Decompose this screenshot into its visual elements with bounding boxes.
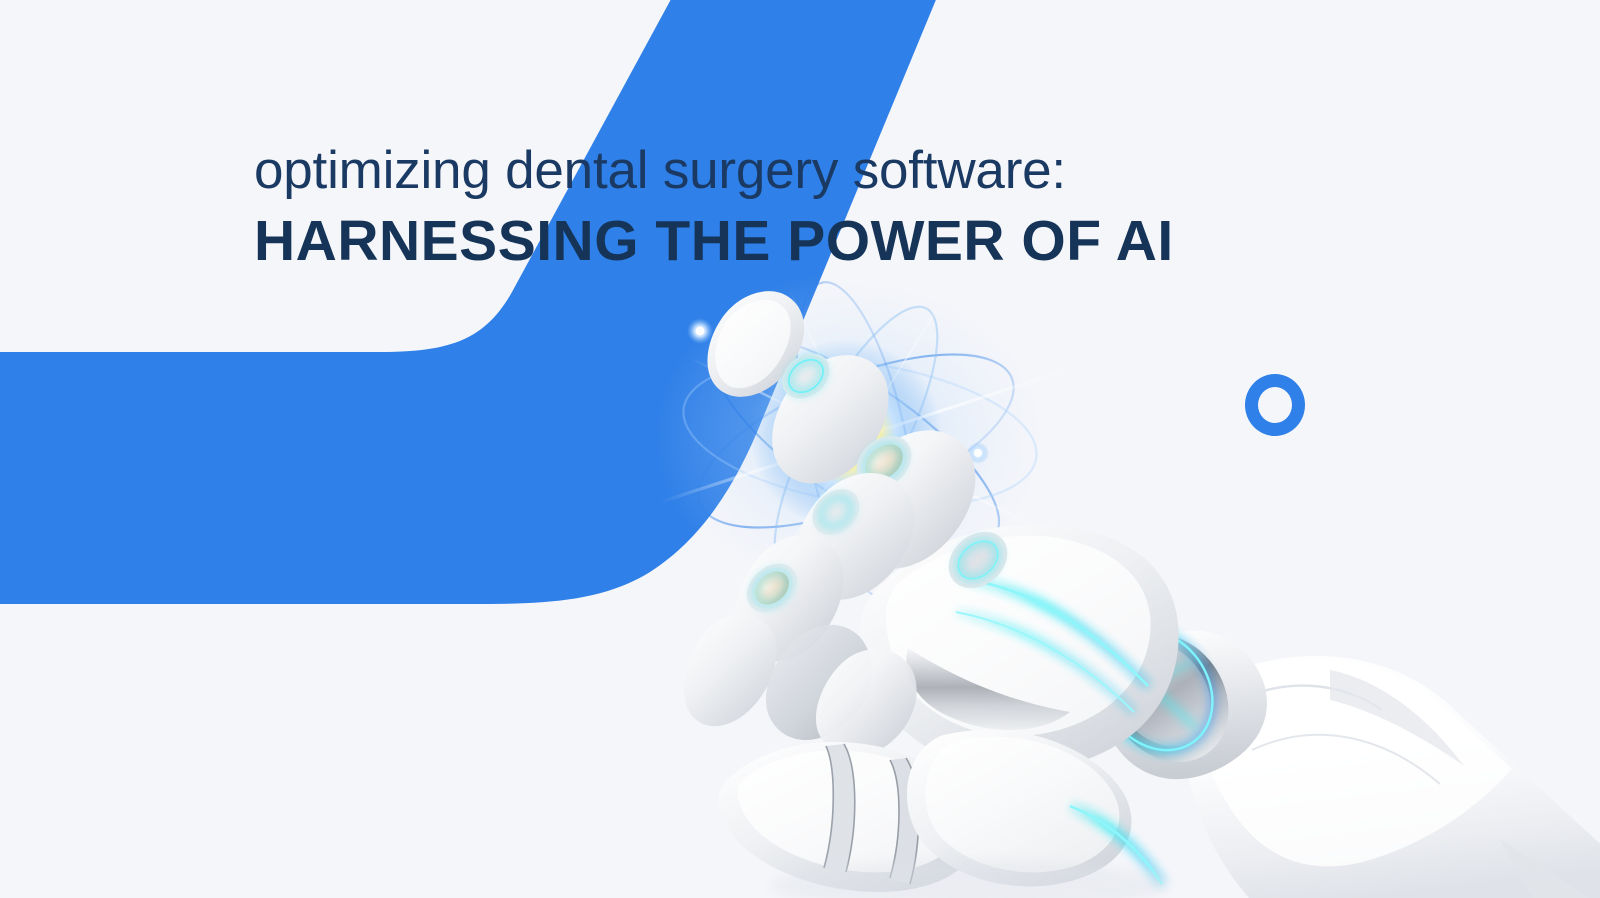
robotic-hand-illustration (640, 250, 1600, 898)
headline-block: optimizing dental surgery software: HARN… (254, 140, 1354, 276)
banner-canvas: optimizing dental surgery software: HARN… (0, 0, 1600, 898)
blue-ring-icon (1245, 374, 1305, 436)
blue-ring-shape (1245, 374, 1305, 436)
headline-line-1: optimizing dental surgery software: (254, 140, 1354, 202)
headline-line-2: HARNESSING THE POWER OF AI (254, 206, 1354, 276)
